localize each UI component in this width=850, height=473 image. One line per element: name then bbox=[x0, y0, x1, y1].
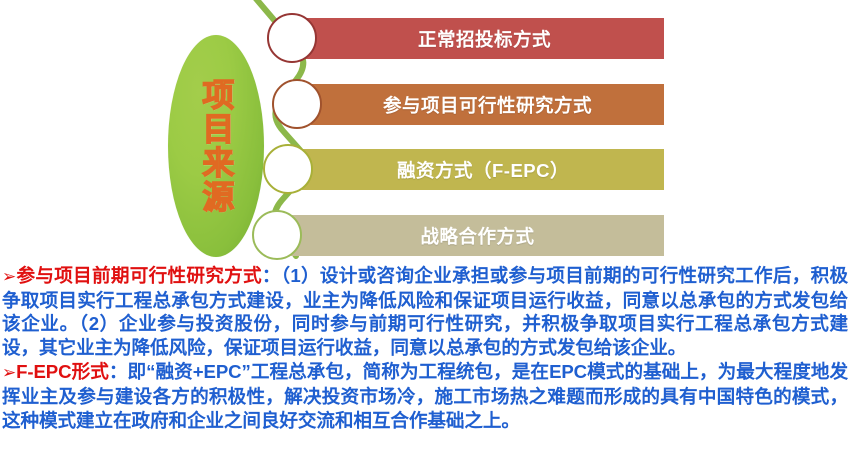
paragraph-1-heading: 参与项目前期可行性研究方式 bbox=[16, 265, 262, 286]
bullet-arrow-icon-2: ➢ bbox=[2, 363, 16, 382]
center-node-ellipse: 项目来源 bbox=[168, 35, 264, 257]
branch-bar-label-1: 正常招投标方式 bbox=[418, 26, 551, 52]
branch-circle-3[interactable] bbox=[263, 144, 313, 194]
description-text-block: ➢参与项目前期可行性研究方式：（1）设计或咨询企业承担或参与项目前期的可行性研究… bbox=[0, 264, 850, 473]
bullet-arrow-icon-1: ➢ bbox=[2, 267, 16, 286]
project-source-diagram: 项目来源 正常招投标方式 参与项目可行性研究方式 融资方式（F-EPC） 战略合… bbox=[0, 0, 850, 264]
branch-bar-3[interactable]: 融资方式（F-EPC） bbox=[302, 149, 664, 190]
paragraph-2-text: ：即“融资+EPC”工程总承包，简称为工程统包，是在EPC模式的基础上，为最大程… bbox=[2, 361, 848, 430]
paragraph-2-heading: F-EPC形式 bbox=[16, 361, 109, 382]
branch-circle-2[interactable] bbox=[272, 79, 322, 129]
branch-circle-1[interactable] bbox=[267, 13, 317, 63]
branch-bar-label-4: 战略合作方式 bbox=[420, 223, 534, 249]
branch-bar-label-2: 参与项目可行性研究方式 bbox=[383, 92, 592, 118]
branch-bar-4[interactable]: 战略合作方式 bbox=[291, 215, 664, 256]
branch-bar-1[interactable]: 正常招投标方式 bbox=[305, 18, 664, 59]
paragraph-1: ➢参与项目前期可行性研究方式：（1）设计或咨询企业承担或参与项目前期的可行性研究… bbox=[2, 264, 848, 359]
branch-bar-2[interactable]: 参与项目可行性研究方式 bbox=[311, 84, 664, 125]
branch-bar-label-3: 融资方式（F-EPC） bbox=[397, 157, 569, 183]
paragraph-2: ➢F-EPC形式：即“融资+EPC”工程总承包，简称为工程统包，是在EPC模式的… bbox=[2, 360, 848, 432]
branch-circle-4[interactable] bbox=[252, 210, 302, 260]
center-node-label: 项目来源 bbox=[200, 78, 233, 214]
